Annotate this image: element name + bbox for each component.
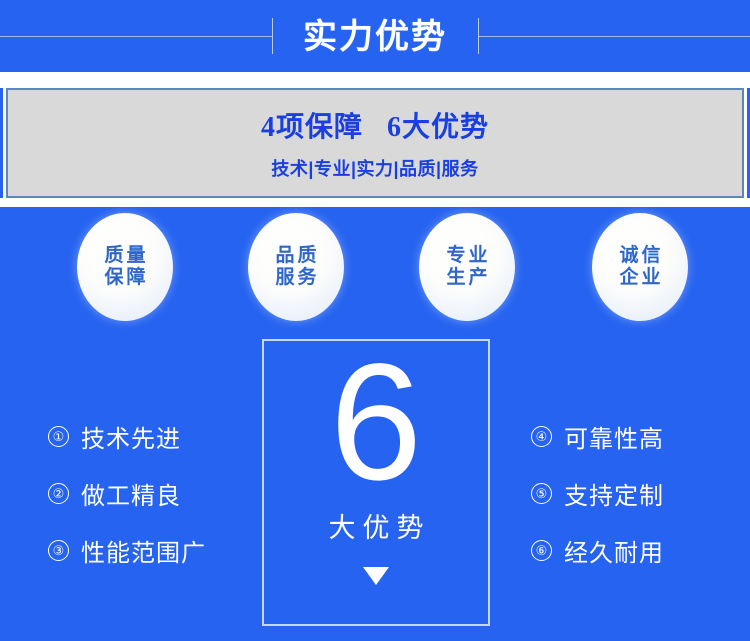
list-item: ② 做工精良 xyxy=(48,479,206,507)
list-item-label: 可靠性高 xyxy=(564,419,664,454)
advantage-count-box: 6 大优势 xyxy=(262,339,490,626)
list-item: ③ 性能范围广 xyxy=(48,536,206,564)
badge-label-line2: 保障 xyxy=(101,267,148,289)
advantage-count-number: 6 xyxy=(330,343,422,502)
badge-label-line1: 品质 xyxy=(272,245,319,267)
white-divider-top xyxy=(0,72,750,88)
header-tick-right-icon xyxy=(478,18,479,54)
list-item-label: 经久耐用 xyxy=(564,533,664,568)
badge-row: 质量 保障 品质 服务 专业 生产 诚信 企业 xyxy=(0,213,750,329)
list-item-label: 做工精良 xyxy=(81,476,181,511)
list-item-number-icon: ① xyxy=(48,426,69,447)
header-rule-left-icon xyxy=(0,36,272,37)
badge-label-line2: 服务 xyxy=(272,267,319,289)
badge-label-line1: 专业 xyxy=(443,245,490,267)
list-item-number-icon: ④ xyxy=(531,426,552,447)
advantage-count-caption: 大优势 xyxy=(322,506,431,545)
badge-label-line1: 诚信 xyxy=(616,245,663,267)
list-item: ④ 可靠性高 xyxy=(531,422,664,450)
header-rule-right-icon xyxy=(478,36,750,37)
list-item-number-icon: ② xyxy=(48,483,69,504)
badge-integrity-enterprise[interactable]: 诚信 企业 xyxy=(592,213,688,321)
list-item-label: 技术先进 xyxy=(81,419,181,454)
guarantee-banner: 4项保障 6大优势 技术|专业|实力|品质|服务 xyxy=(6,88,744,198)
badge-label-line1: 质量 xyxy=(101,245,148,267)
feature-list-left: ① 技术先进 ② 做工精良 ③ 性能范围广 xyxy=(48,422,206,564)
feature-list-right: ④ 可靠性高 ⑤ 支持定制 ⑥ 经久耐用 xyxy=(531,422,664,564)
list-item-number-icon: ⑤ xyxy=(531,483,552,504)
list-item: ⑤ 支持定制 xyxy=(531,479,664,507)
white-divider-bottom xyxy=(0,198,750,207)
guarantee-subline: 技术|专业|实力|品质|服务 xyxy=(271,155,478,181)
chevron-down-icon xyxy=(363,567,389,585)
badge-quality-guarantee[interactable]: 质量 保障 xyxy=(77,213,173,321)
list-item: ① 技术先进 xyxy=(48,422,206,450)
list-item-label: 支持定制 xyxy=(564,476,664,511)
page-title: 实力优势 xyxy=(272,8,478,66)
badge-quality-service[interactable]: 品质 服务 xyxy=(248,213,344,321)
list-item-label: 性能范围广 xyxy=(81,533,206,568)
list-item-number-icon: ③ xyxy=(48,540,69,561)
guarantee-headline: 4项保障 6大优势 xyxy=(261,105,489,145)
badge-label-line2: 企业 xyxy=(616,267,663,289)
badge-professional-production[interactable]: 专业 生产 xyxy=(419,213,515,321)
list-item-number-icon: ⑥ xyxy=(531,540,552,561)
list-item: ⑥ 经久耐用 xyxy=(531,536,664,564)
promo-page: 实力优势 4项保障 6大优势 技术|专业|实力|品质|服务 质量 保障 品质 服… xyxy=(0,0,750,641)
header-band: 实力优势 xyxy=(0,0,750,72)
badge-label-line2: 生产 xyxy=(443,267,490,289)
